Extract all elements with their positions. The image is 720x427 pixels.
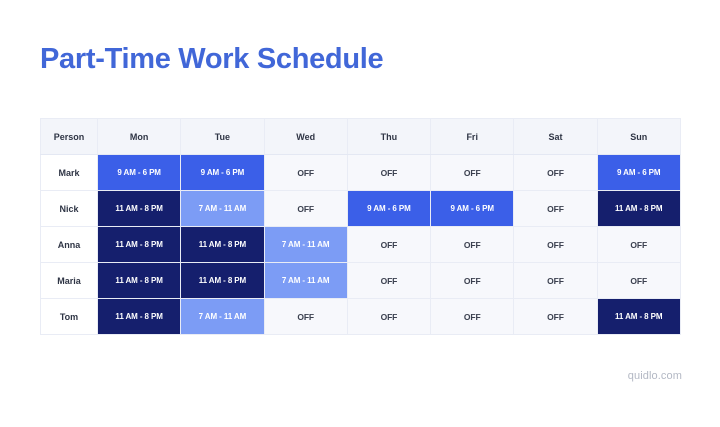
- shift-cell-label: OFF: [265, 191, 347, 226]
- schedule-page: Part-Time Work Schedule Person Mon Tue W…: [0, 0, 720, 427]
- shift-cell[interactable]: 9 AM - 6 PM: [347, 191, 430, 227]
- column-header-sun: Sun: [597, 119, 680, 155]
- shift-cell-label: 11 AM - 8 PM: [98, 263, 180, 298]
- shift-cell[interactable]: OFF: [514, 191, 597, 227]
- shift-cell-label: OFF: [514, 299, 596, 334]
- column-header-tue: Tue: [181, 119, 264, 155]
- shift-cell[interactable]: OFF: [264, 299, 347, 335]
- shift-cell-label: OFF: [598, 227, 680, 262]
- shift-cell-label: 11 AM - 8 PM: [98, 191, 180, 226]
- person-name-cell: Maria: [41, 263, 98, 299]
- shift-cell[interactable]: 11 AM - 8 PM: [98, 299, 181, 335]
- person-name-cell: Nick: [41, 191, 98, 227]
- shift-cell[interactable]: OFF: [431, 227, 514, 263]
- column-header-sat: Sat: [514, 119, 597, 155]
- shift-cell[interactable]: 11 AM - 8 PM: [597, 299, 680, 335]
- shift-cell-label: 9 AM - 6 PM: [98, 155, 180, 190]
- shift-cell-label: 7 AM - 11 AM: [265, 227, 347, 262]
- column-header-person: Person: [41, 119, 98, 155]
- shift-cell[interactable]: 7 AM - 11 AM: [264, 263, 347, 299]
- shift-cell-label: 11 AM - 8 PM: [98, 299, 180, 334]
- shift-cell-label: 11 AM - 8 PM: [598, 299, 680, 334]
- shift-cell-label: 7 AM - 11 AM: [265, 263, 347, 298]
- shift-cell[interactable]: OFF: [597, 263, 680, 299]
- footer-brand: quidlo.com: [628, 370, 682, 382]
- shift-cell-label: OFF: [348, 155, 430, 190]
- shift-cell-label: 11 AM - 8 PM: [598, 191, 680, 226]
- shift-cell[interactable]: 11 AM - 8 PM: [98, 191, 181, 227]
- shift-cell[interactable]: OFF: [264, 191, 347, 227]
- shift-cell[interactable]: 11 AM - 8 PM: [98, 263, 181, 299]
- work-schedule-table: Person Mon Tue Wed Thu Fri Sat Sun Mark9…: [40, 118, 681, 335]
- person-name-cell: Tom: [41, 299, 98, 335]
- shift-cell[interactable]: 11 AM - 8 PM: [98, 227, 181, 263]
- table-row: Anna11 AM - 8 PM11 AM - 8 PM7 AM - 11 AM…: [41, 227, 681, 263]
- shift-cell[interactable]: 9 AM - 6 PM: [431, 191, 514, 227]
- person-name-cell: Anna: [41, 227, 98, 263]
- shift-cell[interactable]: 7 AM - 11 AM: [181, 191, 264, 227]
- column-header-fri: Fri: [431, 119, 514, 155]
- table-row: Mark9 AM - 6 PM9 AM - 6 PMOFFOFFOFFOFF9 …: [41, 155, 681, 191]
- shift-cell-label: OFF: [431, 155, 513, 190]
- shift-cell[interactable]: 9 AM - 6 PM: [98, 155, 181, 191]
- table-body: Mark9 AM - 6 PM9 AM - 6 PMOFFOFFOFFOFF9 …: [41, 155, 681, 335]
- shift-cell-label: 9 AM - 6 PM: [598, 155, 680, 190]
- shift-cell-label: OFF: [514, 191, 596, 226]
- shift-cell-label: OFF: [514, 227, 596, 262]
- shift-cell-label: 11 AM - 8 PM: [181, 227, 263, 262]
- shift-cell-label: 7 AM - 11 AM: [181, 299, 263, 334]
- shift-cell[interactable]: 9 AM - 6 PM: [181, 155, 264, 191]
- shift-cell[interactable]: 11 AM - 8 PM: [597, 191, 680, 227]
- shift-cell[interactable]: OFF: [597, 227, 680, 263]
- shift-cell[interactable]: 7 AM - 11 AM: [181, 299, 264, 335]
- shift-cell-label: 9 AM - 6 PM: [431, 191, 513, 226]
- column-header-mon: Mon: [98, 119, 181, 155]
- shift-cell-label: OFF: [431, 299, 513, 334]
- shift-cell[interactable]: OFF: [514, 227, 597, 263]
- shift-cell[interactable]: OFF: [347, 299, 430, 335]
- shift-cell[interactable]: OFF: [431, 155, 514, 191]
- shift-cell[interactable]: OFF: [514, 299, 597, 335]
- shift-cell-label: 11 AM - 8 PM: [98, 227, 180, 262]
- shift-cell[interactable]: OFF: [347, 263, 430, 299]
- shift-cell[interactable]: OFF: [514, 263, 597, 299]
- shift-cell[interactable]: OFF: [347, 155, 430, 191]
- shift-cell-label: 9 AM - 6 PM: [181, 155, 263, 190]
- table-row: Tom11 AM - 8 PM7 AM - 11 AMOFFOFFOFFOFF1…: [41, 299, 681, 335]
- table-header-row: Person Mon Tue Wed Thu Fri Sat Sun: [41, 119, 681, 155]
- person-name-cell: Mark: [41, 155, 98, 191]
- shift-cell-label: OFF: [265, 299, 347, 334]
- shift-cell[interactable]: OFF: [264, 155, 347, 191]
- shift-cell[interactable]: 11 AM - 8 PM: [181, 227, 264, 263]
- shift-cell-label: OFF: [348, 263, 430, 298]
- shift-cell-label: OFF: [348, 227, 430, 262]
- table-row: Maria11 AM - 8 PM11 AM - 8 PM7 AM - 11 A…: [41, 263, 681, 299]
- shift-cell-label: 11 AM - 8 PM: [181, 263, 263, 298]
- page-title: Part-Time Work Schedule: [40, 44, 383, 76]
- shift-cell[interactable]: 9 AM - 6 PM: [597, 155, 680, 191]
- shift-cell[interactable]: OFF: [431, 299, 514, 335]
- shift-cell-label: OFF: [514, 263, 596, 298]
- shift-cell-label: OFF: [431, 263, 513, 298]
- column-header-thu: Thu: [347, 119, 430, 155]
- shift-cell-label: OFF: [598, 263, 680, 298]
- table-header: Person Mon Tue Wed Thu Fri Sat Sun: [41, 119, 681, 155]
- column-header-wed: Wed: [264, 119, 347, 155]
- shift-cell[interactable]: 7 AM - 11 AM: [264, 227, 347, 263]
- shift-cell-label: OFF: [348, 299, 430, 334]
- shift-cell-label: OFF: [514, 155, 596, 190]
- shift-cell-label: 7 AM - 11 AM: [181, 191, 263, 226]
- shift-cell[interactable]: 11 AM - 8 PM: [181, 263, 264, 299]
- shift-cell[interactable]: OFF: [514, 155, 597, 191]
- shift-cell-label: 9 AM - 6 PM: [348, 191, 430, 226]
- shift-cell[interactable]: OFF: [347, 227, 430, 263]
- table-row: Nick11 AM - 8 PM7 AM - 11 AMOFF9 AM - 6 …: [41, 191, 681, 227]
- shift-cell-label: OFF: [431, 227, 513, 262]
- shift-cell[interactable]: OFF: [431, 263, 514, 299]
- shift-cell-label: OFF: [265, 155, 347, 190]
